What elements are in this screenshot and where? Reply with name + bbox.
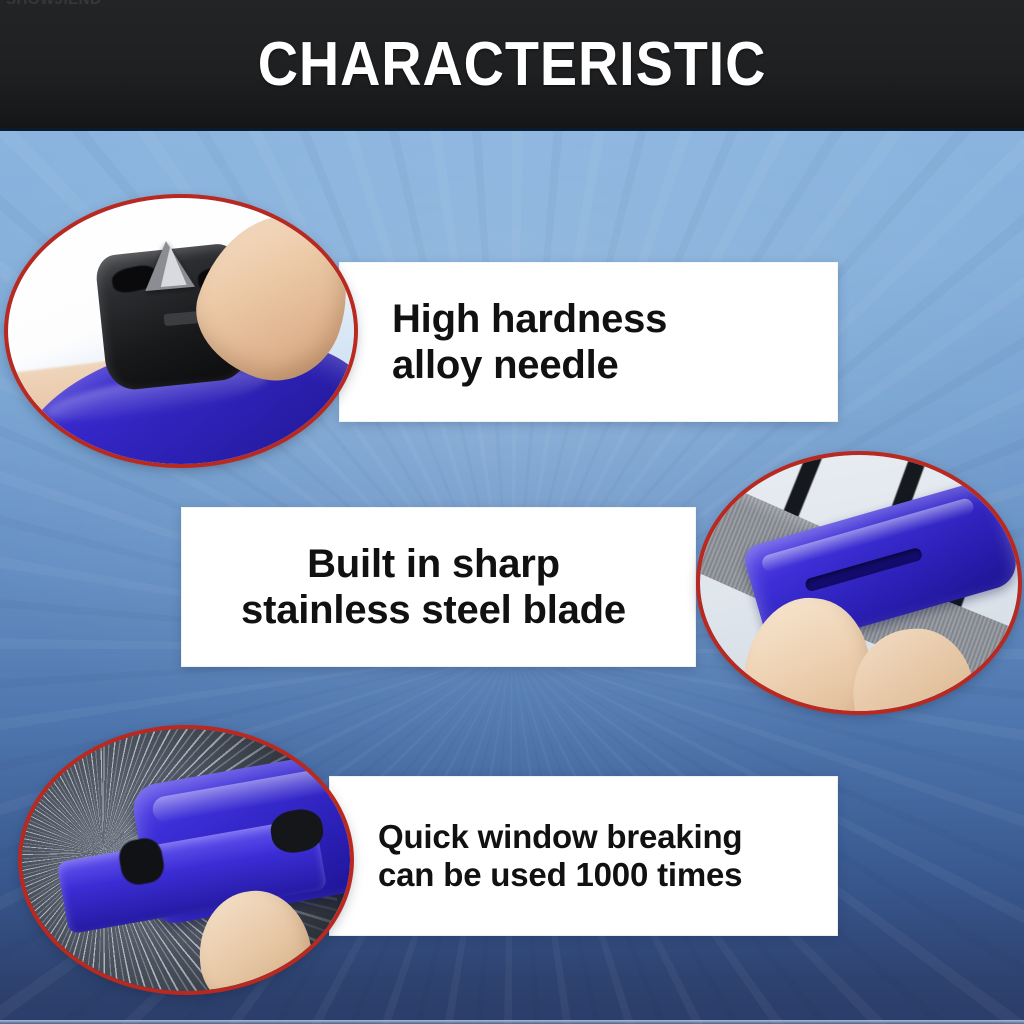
feature-callout-1: High hardness alloy needle	[340, 263, 837, 421]
brand-watermark: SHOWJIEND	[6, 0, 101, 8]
alloy-needle-scene	[8, 198, 354, 464]
seatbelt-cutter-photo	[700, 455, 1018, 711]
feature-callout-2: Built in sharp stainless steel blade	[182, 508, 695, 666]
alloy-needle-photo	[8, 198, 354, 464]
feature-callout-3: Quick window breaking can be used 1000 t…	[330, 777, 837, 935]
scene2-blade-slot	[804, 547, 923, 592]
feature-2-text: Built in sharp stainless steel blade	[182, 541, 695, 634]
header-bar: SHOWJIEND CHARACTERISTIC	[0, 0, 1024, 131]
seatbelt-cutter-scene	[700, 455, 1018, 711]
window-breaking-scene	[22, 729, 350, 991]
window-breaking-photo	[22, 729, 350, 991]
feature-1-text: High hardness alloy needle	[340, 296, 837, 389]
background-bottom-edge	[0, 1020, 1024, 1024]
scene1-alloy-needle-tip	[157, 245, 186, 287]
feature-3-text: Quick window breaking can be used 1000 t…	[330, 818, 837, 895]
infographic-page: SHOWJIEND CHARACTERISTIC High hardness a…	[0, 0, 1024, 1024]
page-title: CHARACTERISTIC	[51, 30, 973, 100]
